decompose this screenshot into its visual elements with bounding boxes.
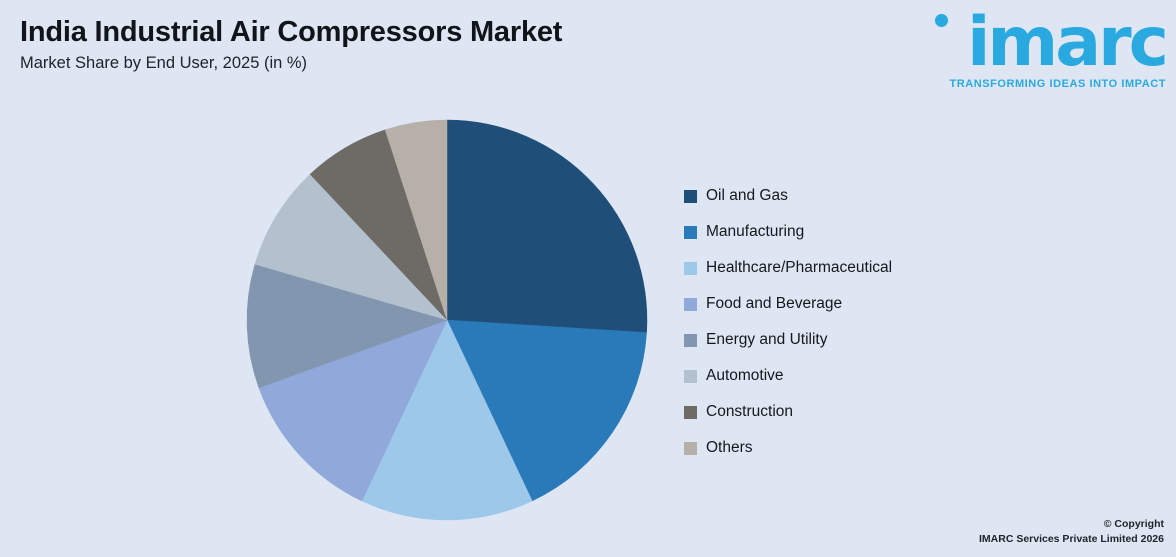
legend-item-label: Manufacturing xyxy=(706,224,804,240)
imarc-logo: imarc TRANSFORMING IDEAS INTO IMPACT xyxy=(916,12,1166,90)
legend-item[interactable]: Automotive xyxy=(684,358,1114,394)
legend-swatch-icon xyxy=(684,334,697,347)
pie-slices xyxy=(247,120,647,520)
legend-swatch-icon xyxy=(684,262,697,275)
legend-item-label: Automotive xyxy=(706,368,784,384)
pie-slice[interactable] xyxy=(447,120,647,333)
legend-swatch-icon xyxy=(684,190,697,203)
page-subtitle: Market Share by End User, 2025 (in %) xyxy=(20,54,720,73)
legend-item[interactable]: Oil and Gas xyxy=(684,178,1114,214)
legend-item[interactable]: Manufacturing xyxy=(684,214,1114,250)
legend-item-label: Food and Beverage xyxy=(706,296,842,312)
footer: © Copyright IMARC Services Private Limit… xyxy=(979,517,1164,547)
legend-item[interactable]: Construction xyxy=(684,394,1114,430)
legend-item[interactable]: Others xyxy=(684,430,1114,466)
legend-item-label: Others xyxy=(706,440,753,456)
legend-swatch-icon xyxy=(684,370,697,383)
legend-item[interactable]: Food and Beverage xyxy=(684,286,1114,322)
legend-item-label: Energy and Utility xyxy=(706,332,827,348)
legend-swatch-icon xyxy=(684,298,697,311)
page-title: India Industrial Air Compressors Market xyxy=(20,16,720,48)
legend-item-label: Healthcare/Pharmaceutical xyxy=(706,260,892,276)
pie-chart-svg xyxy=(245,118,649,522)
title-block: India Industrial Air Compressors Market … xyxy=(20,16,720,73)
footer-company: IMARC Services Private Limited 2026 xyxy=(979,532,1164,547)
legend-item-label: Construction xyxy=(706,404,793,420)
pie-chart xyxy=(245,118,649,522)
footer-copyright: © Copyright xyxy=(979,517,1164,532)
legend-swatch-icon xyxy=(684,406,697,419)
chart-page: India Industrial Air Compressors Market … xyxy=(0,0,1176,557)
legend-item[interactable]: Energy and Utility xyxy=(684,322,1114,358)
legend-swatch-icon xyxy=(684,442,697,455)
legend-item-label: Oil and Gas xyxy=(706,188,788,204)
logo-wordmark-text: imarc xyxy=(916,12,1166,75)
logo-dot-icon xyxy=(935,14,948,27)
legend-item[interactable]: Healthcare/Pharmaceutical xyxy=(684,250,1114,286)
chart-legend: Oil and GasManufacturingHealthcare/Pharm… xyxy=(684,178,1114,466)
legend-swatch-icon xyxy=(684,226,697,239)
